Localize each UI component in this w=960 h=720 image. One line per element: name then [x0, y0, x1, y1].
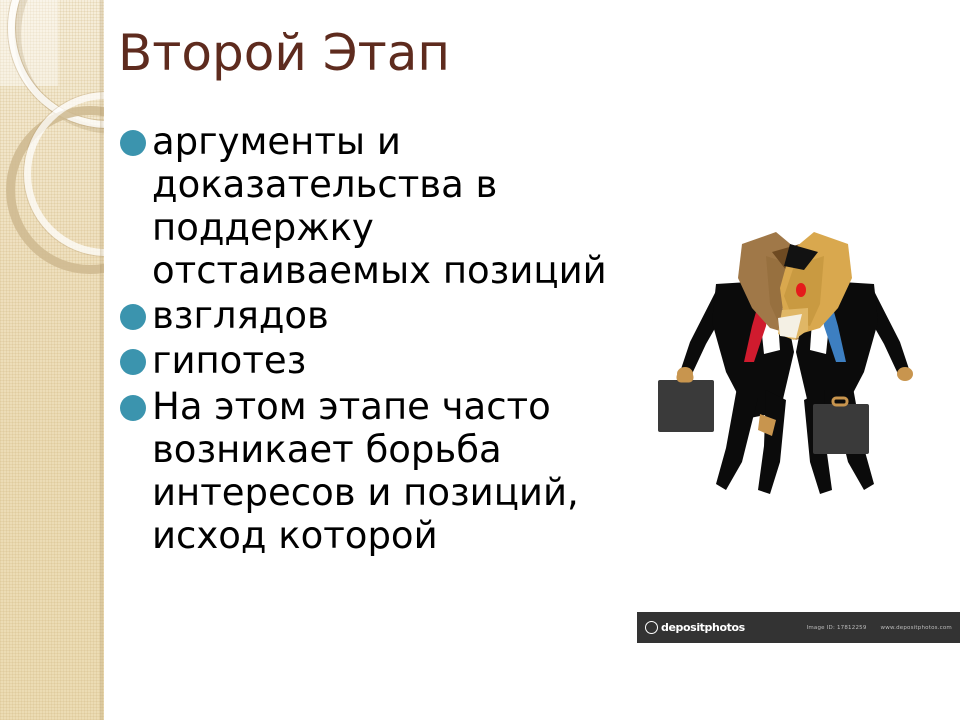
- watermark-bar: depositphotos Image ID: 17812259 www.dep…: [637, 612, 960, 643]
- sidebar-edge-line: [100, 0, 104, 720]
- bullet-text: На этом этапе часто возникает борьба инт…: [152, 385, 638, 557]
- bullet-item: гипотез: [118, 339, 638, 382]
- bullet-dot-icon: [120, 130, 146, 156]
- watermark-site-url: www.depositphotos.com: [881, 625, 952, 631]
- sidebar-texture: [0, 0, 104, 720]
- bullet-item: На этом этапе часто возникает борьба инт…: [118, 385, 638, 557]
- figure-right: [778, 232, 913, 494]
- bullet-item: аргументы и доказательства в поддержку о…: [118, 120, 638, 292]
- watermark-image-id: Image ID: 17812259: [807, 625, 867, 631]
- decorative-ring-lower-b-icon: [24, 92, 104, 256]
- decorative-ring-lower-a-icon: [6, 106, 104, 274]
- bullet-dot-icon: [120, 349, 146, 375]
- decorative-ring-upper-icon: [8, 0, 104, 128]
- sidebar-top-highlight-block: [0, 0, 58, 86]
- decorative-ring-upper-shadow: [14, 0, 104, 134]
- depositphotos-logo-icon: [645, 621, 658, 634]
- watermark-meta-group: Image ID: 17812259 www.depositphotos.com: [807, 625, 952, 631]
- watermark-brand-label: depositphotos: [661, 621, 745, 634]
- slide: Второй Этап аргументы и доказательства в…: [0, 0, 960, 720]
- bullet-text: аргументы и доказательства в поддержку о…: [152, 120, 638, 292]
- briefcase-right: [813, 398, 869, 454]
- bullet-text: гипотез: [152, 339, 638, 382]
- slide-title: Второй Этап: [118, 27, 738, 80]
- bullet-dot-icon: [120, 395, 146, 421]
- watermark-brand-group: depositphotos: [645, 621, 745, 634]
- bullet-dot-icon: [120, 304, 146, 330]
- bullet-item: взглядов: [118, 294, 638, 337]
- decorative-sidebar: [0, 0, 104, 720]
- illustration-bull-headed-businessmen: [630, 222, 960, 512]
- bullet-list: аргументы и доказательства в поддержку о…: [118, 120, 638, 559]
- bullet-text: взглядов: [152, 294, 638, 337]
